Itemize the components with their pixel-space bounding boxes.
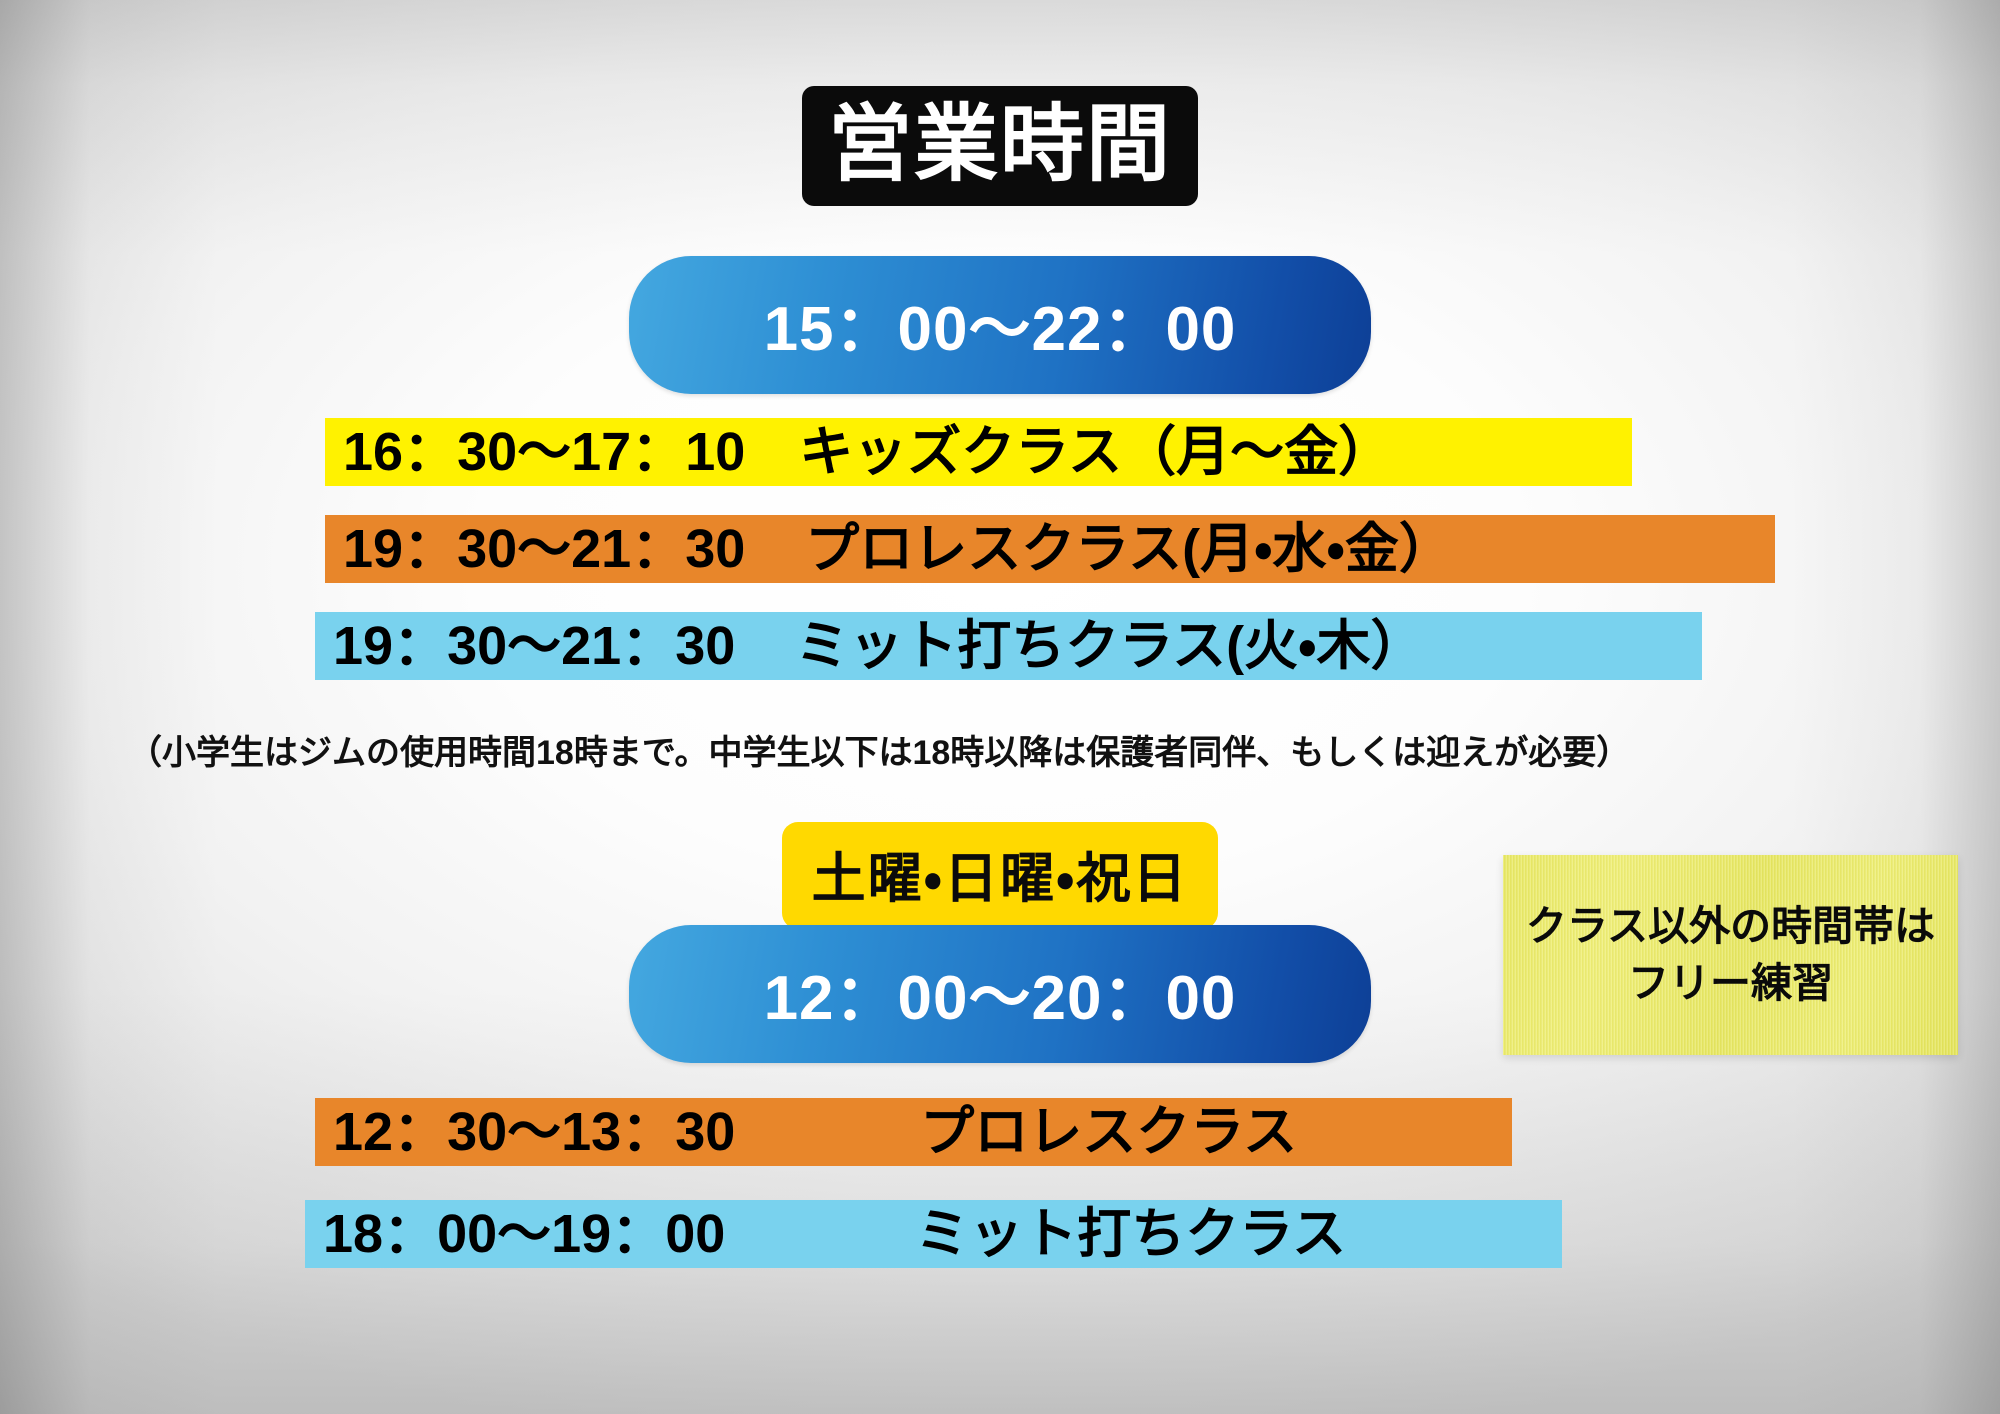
schedule-row-time: 19：30〜21：30 xyxy=(343,522,745,576)
age-restriction-note: （小学生はジムの使用時間18時まで。中学生以下は18時以降は保護者同伴、もしくは… xyxy=(128,725,1630,774)
business-hours-poster: 営業時間 15：00〜22：00 16：30〜17：10 キッズクラス（月〜金）… xyxy=(0,0,2000,1414)
schedule-row-time: 12：30〜13：30 xyxy=(333,1105,735,1159)
schedule-row-weekday-prowrestling: 19：30〜21：30 プロレスクラス(月・水・金） xyxy=(325,515,1775,583)
free-practice-box: クラス以外の時間帯は フリー練習 xyxy=(1503,855,1958,1055)
weekday-hours-area: 15：00〜22：00 xyxy=(0,256,2000,394)
schedule-row-label: プロレスクラス(月・水・金） xyxy=(805,522,1453,576)
schedule-row-weekday-mitt: 19：30〜21：30 ミット打ちクラス(火・木） xyxy=(315,612,1702,680)
schedule-row-weekday-kids: 16：30〜17：10 キッズクラス（月〜金） xyxy=(325,418,1632,486)
free-practice-line2: フリー練習 xyxy=(1628,955,1833,1012)
schedule-row-label: プロレスクラス xyxy=(920,1105,1297,1159)
schedule-row-time: 18：00〜19：00 xyxy=(323,1207,725,1261)
page-title: 営業時間 xyxy=(802,86,1198,206)
schedule-row-label: キッズクラス（月〜金） xyxy=(799,425,1392,479)
weekend-header: 土曜・日曜・祝日 xyxy=(782,822,1219,929)
weekend-hours-pill: 12：00〜20：00 xyxy=(629,925,1371,1063)
free-practice-line1: クラス以外の時間帯は xyxy=(1526,898,1935,955)
schedule-row-label: ミット打ちクラス(火・木） xyxy=(795,619,1424,673)
schedule-row-time: 16：30〜17：10 xyxy=(343,425,745,479)
schedule-row-weekend-mitt: 18：00〜19：00 ミット打ちクラス xyxy=(305,1200,1562,1268)
schedule-row-label: ミット打ちクラス xyxy=(915,1207,1346,1261)
poster-title-area: 営業時間 xyxy=(0,86,2000,206)
weekday-hours-pill: 15：00〜22：00 xyxy=(629,256,1371,394)
schedule-row-weekend-prowrestling: 12：30〜13：30 プロレスクラス xyxy=(315,1098,1512,1166)
schedule-row-time: 19：30〜21：30 xyxy=(333,619,735,673)
